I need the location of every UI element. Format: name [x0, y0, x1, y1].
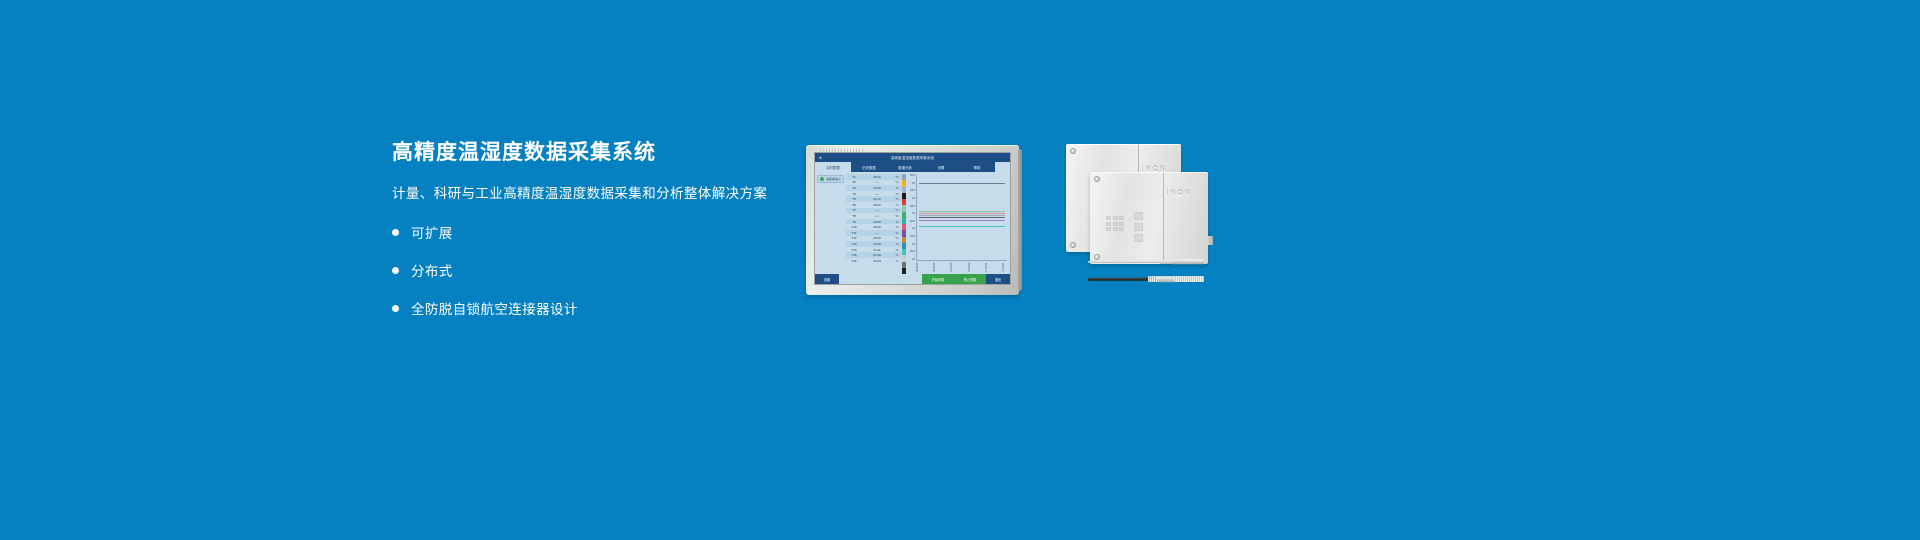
y-tick-label: 20.5 [906, 250, 915, 253]
channel-unit: °C [892, 259, 902, 263]
screen-body: 采集模块-1 T125.01°CT2----°CT324.99°CT4----°… [815, 172, 1010, 274]
hero-banner: 高精度温湿度数据采集系统 计量、科研与工业高精度温湿度数据采集和分析整体解决方案… [0, 0, 1920, 540]
table-row[interactable]: T7----°C [846, 208, 902, 214]
table-row[interactable]: T8----°C [846, 213, 902, 219]
feature-label: 可扩展 [411, 222, 453, 242]
brand-logo: INON [1167, 190, 1193, 197]
y-tick-label: 20 [906, 258, 915, 261]
chart-y-axis: 25.52524.52423.52322.52221.52120.520 [906, 174, 915, 261]
tab-realtime[interactable]: 实时数据 [815, 162, 851, 172]
device-tree-panel: 采集模块-1 [815, 172, 846, 274]
panel-pc-device: ◄ 高精度温湿度数据采集系统 实时数据 历史数据 数据分析 设置 帮助 采集模块… [806, 145, 1019, 295]
channel-value: 24.90 [862, 253, 892, 257]
device-screen: ◄ 高精度温湿度数据采集系统 实时数据 历史数据 数据分析 设置 帮助 采集模块… [814, 152, 1011, 285]
table-row[interactable]: T125.01°C [846, 174, 902, 180]
device-node[interactable]: 采集模块-1 [817, 175, 844, 183]
bullet-dot-icon [392, 229, 399, 236]
channel-unit: °C [892, 253, 902, 257]
channel-name: T16 [846, 259, 862, 263]
table-row[interactable]: T1524.90°C [846, 252, 902, 258]
x-tick-label: 11:30:00 [1002, 261, 1007, 272]
y-tick-label: 24.5 [906, 189, 915, 192]
x-tick-label: 10:00:00 [950, 261, 955, 272]
channel-name: T2 [846, 180, 862, 184]
channel-unit: °C [892, 192, 902, 196]
chart-plot-area [916, 175, 1007, 261]
y-tick-label: 25 [906, 182, 915, 185]
table-row[interactable]: T1324.28°C [846, 241, 902, 247]
chart-series-line [919, 217, 1005, 218]
table-row[interactable]: T524.72°C [846, 196, 902, 202]
list-item: 全防脱自锁航空连接器设计 [392, 298, 822, 318]
trend-chart: 25.52524.52423.52322.52221.52120.520 09:… [906, 172, 1010, 274]
channel-name: T6 [846, 203, 862, 207]
screen-tabbar: 实时数据 历史数据 数据分析 设置 帮助 [815, 162, 1010, 172]
channel-value: 24.11 [862, 248, 892, 252]
tabbar-filler [995, 162, 1010, 172]
chart-series-line [919, 215, 1005, 216]
channel-name: T14 [846, 248, 862, 252]
list-item: 分布式 [392, 260, 822, 280]
y-tick-label: 21 [906, 243, 915, 246]
x-tick-label: 09:30:00 [933, 261, 938, 272]
channel-value: ---- [862, 208, 892, 212]
channel-name: T4 [846, 192, 862, 196]
channel-value: ---- [862, 231, 892, 235]
bullet-dot-icon [392, 267, 399, 274]
channel-name: T9 [846, 220, 862, 224]
copy-block: 高精度温湿度数据采集系统 计量、科研与工业高精度温湿度数据采集和分析整体解决方案… [392, 140, 822, 336]
channel-name: T15 [846, 253, 862, 257]
feature-label: 分布式 [411, 260, 453, 280]
y-tick-label: 25.5 [906, 174, 915, 177]
connector-port [1207, 236, 1213, 245]
table-row[interactable]: T625.02°C [846, 202, 902, 208]
channel-value: 25.01 [862, 175, 892, 179]
channel-unit: °C [892, 175, 902, 179]
table-row[interactable]: T1624.94°C [846, 258, 902, 264]
channel-name: T12 [846, 236, 862, 240]
temperature-probe-aviation-connector [1088, 275, 1204, 283]
channel-value: 24.99 [862, 186, 892, 190]
channel-unit: °C [892, 180, 902, 184]
chart-series-line [919, 226, 1005, 227]
stop-capture-button[interactable]: 停止采集 [954, 274, 986, 284]
channel-unit: °C [892, 214, 902, 218]
channel-value: 25.00 [862, 236, 892, 240]
channel-value: 25.02 [862, 203, 892, 207]
keypad-graphic [1106, 216, 1124, 231]
channel-unit: °C [892, 231, 902, 235]
table-row[interactable]: T324.99°C [846, 185, 902, 191]
settings-button[interactable]: 设置 [815, 274, 839, 284]
list-item: 可扩展 [392, 222, 822, 242]
bullet-dot-icon [392, 305, 399, 312]
y-tick-label: 23 [906, 212, 915, 215]
channel-unit: °C [892, 208, 902, 212]
page-subtitle: 计量、科研与工业高精度温湿度数据采集和分析整体解决方案 [392, 182, 822, 202]
table-row[interactable]: T924.98°C [846, 219, 902, 225]
table-row[interactable]: T1025.00°C [846, 224, 902, 230]
channel-name: T1 [846, 175, 862, 179]
tab-help[interactable]: 帮助 [959, 162, 995, 172]
y-tick-label: 24 [906, 197, 915, 200]
screen-footer: 设置 开始采集 停止采集 退出 [815, 274, 1010, 284]
chart-series-line [919, 211, 1005, 212]
tab-history[interactable]: 历史数据 [851, 162, 887, 172]
channel-name: T11 [846, 231, 862, 235]
acquisition-module-front: INON [1090, 172, 1208, 264]
tab-settings[interactable]: 设置 [923, 162, 959, 172]
channel-value: 24.28 [862, 242, 892, 246]
chart-x-axis: 09:00:0009:30:0010:00:0010:30:0011:00:00… [916, 261, 1007, 272]
channel-name: T10 [846, 225, 862, 229]
channel-name: T5 [846, 197, 862, 201]
temperature-probe-braided [1088, 259, 1204, 264]
channel-unit: °C [892, 186, 902, 190]
status-led-icon [820, 177, 824, 181]
channel-value: ---- [862, 214, 892, 218]
chart-series-line [919, 220, 1005, 221]
y-tick-label: 23.5 [906, 205, 915, 208]
table-row[interactable]: T2----°C [846, 180, 902, 186]
channel-name: T8 [846, 214, 862, 218]
x-tick-label: 10:30:00 [968, 261, 973, 272]
screw-icon [1070, 242, 1076, 248]
chart-series-line [919, 183, 1005, 184]
feature-label: 全防脱自锁航空连接器设计 [411, 298, 578, 318]
channel-value: ---- [862, 192, 892, 196]
table-row[interactable]: T1225.00°C [846, 236, 902, 242]
channel-value: ---- [862, 180, 892, 184]
feature-list: 可扩展 分布式 全防脱自锁航空连接器设计 [392, 222, 822, 318]
screen-window-title: 高精度温湿度数据采集系统 [815, 155, 1010, 160]
x-tick-label: 09:00:00 [916, 261, 921, 272]
channel-value: 24.72 [862, 197, 892, 201]
y-tick-label: 22.5 [906, 220, 915, 223]
channel-unit: °C [892, 242, 902, 246]
channel-unit: °C [892, 225, 902, 229]
channel-table: T125.01°CT2----°CT324.99°CT4----°CT524.7… [846, 172, 902, 274]
y-tick-label: 21.5 [906, 235, 915, 238]
screw-icon [1094, 176, 1100, 182]
x-tick-label: 11:00:00 [985, 261, 990, 272]
y-tick-label: 22 [906, 227, 915, 230]
page-title: 高精度温湿度数据采集系统 [392, 140, 822, 165]
channel-unit: °C [892, 220, 902, 224]
chart-series-line [919, 213, 1005, 214]
channel-unit: °C [892, 248, 902, 252]
table-row[interactable]: T4----°C [846, 191, 902, 197]
channel-unit: °C [892, 236, 902, 240]
exit-button[interactable]: 退出 [986, 274, 1010, 284]
channel-value: 24.98 [862, 220, 892, 224]
table-row[interactable]: T1424.11°C [846, 247, 902, 253]
channel-name: T3 [846, 186, 862, 190]
channel-value: 25.00 [862, 225, 892, 229]
screw-icon [1070, 148, 1076, 154]
port-graphic [1134, 212, 1143, 242]
footer-filler [839, 274, 922, 284]
table-row[interactable]: T11----°C [846, 230, 902, 236]
channel-name: T7 [846, 208, 862, 212]
channel-unit: °C [892, 197, 902, 201]
screen-titlebar: ◄ 高精度温湿度数据采集系统 [815, 153, 1010, 162]
tab-analysis[interactable]: 数据分析 [887, 162, 923, 172]
channel-value: 24.94 [862, 259, 892, 263]
channel-unit: °C [892, 203, 902, 207]
device-node-label: 采集模块-1 [826, 177, 841, 181]
channel-name: T13 [846, 242, 862, 246]
start-capture-button[interactable]: 开始采集 [922, 274, 954, 284]
